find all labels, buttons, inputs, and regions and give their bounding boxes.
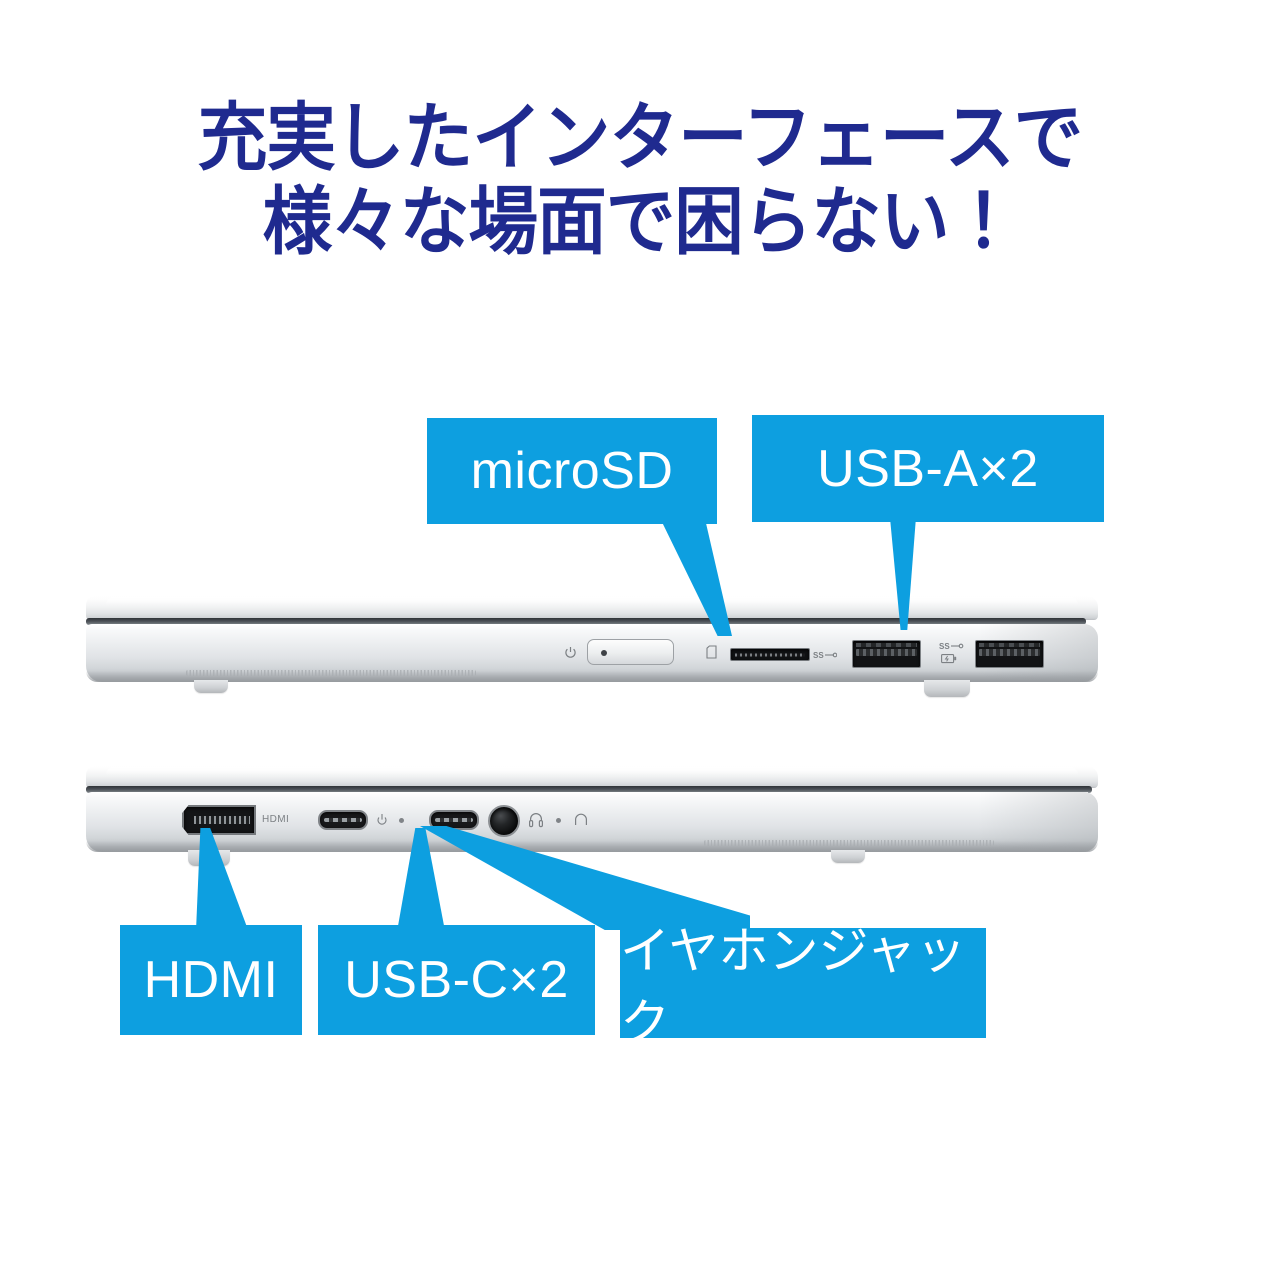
power-symbol-icon (564, 646, 577, 659)
microsd-card-icon (706, 645, 717, 659)
callout-hdmi-label: HDMI (144, 950, 279, 1010)
svg-text:SS: SS (939, 642, 950, 651)
vent-grille (704, 840, 994, 846)
headphone-jack[interactable] (488, 805, 520, 837)
charge-led-indicator (399, 818, 404, 823)
page-title: 充実したインターフェースで 様々な場面で困らない！ (38, 96, 1241, 263)
usb-c-port-1[interactable] (318, 810, 368, 830)
laptop-lid (86, 766, 1098, 788)
rubber-foot-right (924, 680, 970, 697)
rubber-foot-right (831, 850, 865, 863)
base-top-highlight (96, 624, 1088, 627)
callout-microsd-label: microSD (471, 441, 674, 501)
laptop-base: SS SS (86, 624, 1098, 682)
usb-superspeed-icon-1: SS (813, 650, 837, 660)
power-led-indicator (601, 650, 607, 656)
battery-charge-icon (941, 653, 957, 664)
callout-earphone-label: イヤホンジャック (620, 911, 986, 1055)
lid-highlight (106, 597, 1078, 605)
headline-line-2: 様々な場面で困らない！ (38, 180, 1241, 264)
vent-grille (186, 670, 476, 676)
laptop-left-side-profile: HDMI (86, 766, 1098, 852)
callout-hdmi[interactable]: HDMI (120, 925, 302, 1035)
laptop-base: HDMI (86, 792, 1098, 852)
usb-superspeed-icon-2: SS (939, 641, 967, 651)
base-top-highlight (96, 792, 1088, 795)
hdmi-label: HDMI (262, 815, 289, 825)
callout-usb-a[interactable]: USB-A×2 (752, 415, 1104, 522)
hdmi-port[interactable] (182, 805, 256, 835)
infographic-canvas: 充実したインターフェースで 様々な場面で困らない！ (0, 0, 1280, 1280)
headline-line-1: 充実したインターフェースで (38, 96, 1241, 180)
laptop-right-side-profile: SS SS (86, 596, 1098, 682)
power-plug-icon (376, 813, 388, 827)
headphone-icon (529, 812, 543, 828)
callout-microsd[interactable]: microSD (427, 418, 717, 524)
callout-usb-c[interactable]: USB-C×2 (318, 925, 595, 1035)
usb-a-port-1[interactable] (852, 640, 921, 668)
power-button[interactable] (587, 639, 674, 665)
microsd-card-slot[interactable] (730, 648, 810, 661)
audio-status-dot (556, 818, 561, 823)
callout-usb-a-label: USB-A×2 (817, 439, 1039, 499)
usb-a-port-2[interactable] (975, 640, 1044, 668)
headset-arc-icon (574, 813, 588, 826)
laptop-lid (86, 596, 1098, 620)
callout-usb-c-label: USB-C×2 (344, 950, 569, 1010)
svg-text:SS: SS (813, 651, 824, 660)
callout-earphone[interactable]: イヤホンジャック (620, 928, 986, 1038)
rubber-foot-left (194, 680, 228, 693)
lid-highlight (106, 767, 1078, 775)
